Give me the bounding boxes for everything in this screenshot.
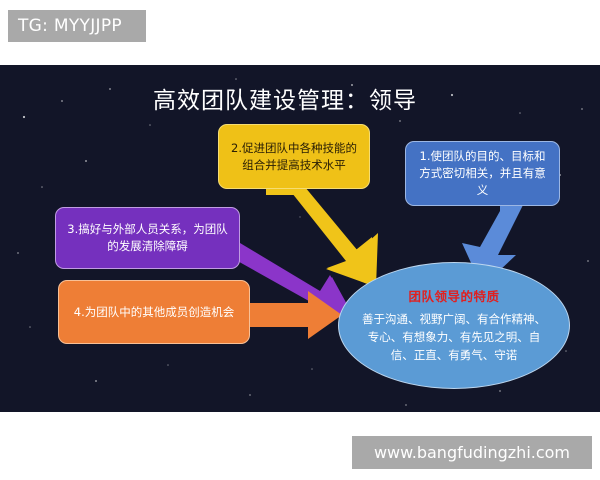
site-watermark: www.bangfudingzhi.com	[352, 436, 592, 469]
center-ellipse-node[interactable]: 团队领导的特质 善于沟通、视野广阔、有合作精神、专心、有想象力、有先见之明、自信…	[338, 262, 570, 389]
center-ellipse-title: 团队领导的特质	[408, 286, 499, 305]
center-ellipse-body: 善于沟通、视野广阔、有合作精神、专心、有想象力、有先见之明、自信、正直、有勇气、…	[361, 311, 547, 364]
slide-canvas: 高效团队建设管理：领导 2.促进团队中各种技能的组合并提高技术水平 1.使团队的…	[0, 65, 600, 412]
tg-watermark-tag: TG: MYYJJPP	[8, 10, 146, 42]
node-box-1[interactable]: 1.使团队的目的、目标和方式密切相关，并且有意义	[405, 141, 560, 206]
node-box-4[interactable]: 4.为团队中的其他成员创造机会	[58, 280, 250, 344]
node-box-2[interactable]: 2.促进团队中各种技能的组合并提高技术水平	[218, 124, 370, 189]
node-box-3[interactable]: 3.搞好与外部人员关系，为团队的发展清除障碍	[55, 207, 240, 269]
